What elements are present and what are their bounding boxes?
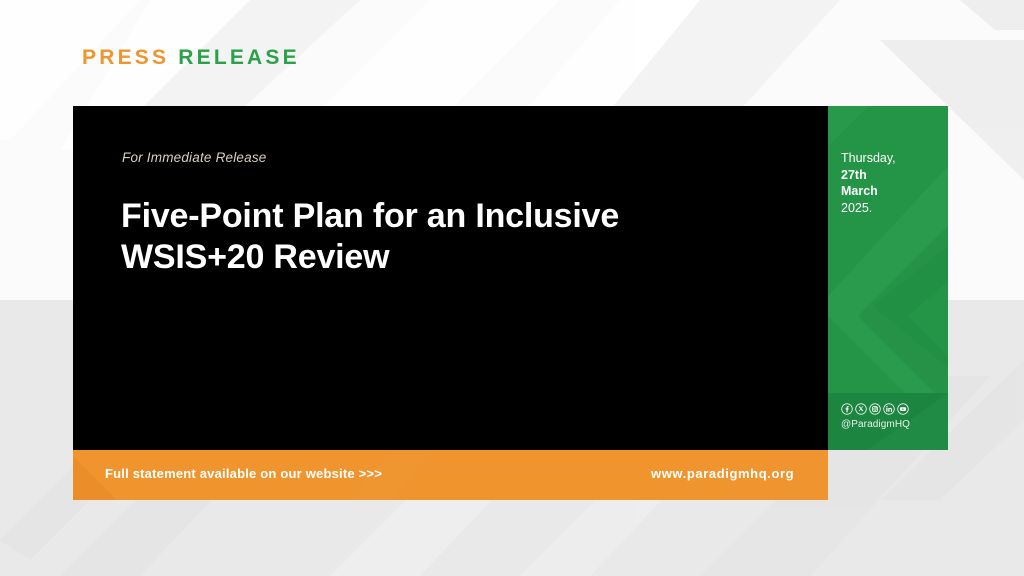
instagram-icon[interactable] (869, 403, 881, 415)
social-block: @ParadigmHQ (841, 403, 941, 430)
date-weekday: Thursday, (841, 150, 896, 167)
social-handle: @ParadigmHQ (841, 419, 941, 430)
date-day: 27th (841, 167, 896, 184)
page-title-release: RELEASE (178, 46, 300, 69)
youtube-icon[interactable] (897, 403, 909, 415)
hero-panel: For Immediate Release Five-Point Plan fo… (73, 106, 828, 450)
page-header: PRESS RELEASE PARADIGM INITIATIVE (0, 46, 1024, 94)
release-kicker: For Immediate Release (122, 150, 267, 165)
footer-bar: Full statement available on our website … (73, 450, 828, 500)
page-title-press: PRESS (82, 46, 169, 69)
headline: Five-Point Plan for an Inclusive WSIS+20… (121, 196, 761, 279)
date-year: 2025. (841, 200, 896, 217)
date-panel: Thursday, 27th March 2025. (828, 106, 948, 450)
footer-cta-text[interactable]: Full statement available on our website … (105, 466, 382, 481)
date-month: March (841, 183, 896, 200)
page-title: PRESS RELEASE (82, 46, 300, 70)
facebook-icon[interactable] (841, 403, 853, 415)
release-date: Thursday, 27th March 2025. (841, 150, 896, 217)
footer-website-url[interactable]: www.paradigmhq.org (651, 466, 794, 481)
linkedin-icon[interactable] (883, 403, 895, 415)
x-twitter-icon[interactable] (855, 403, 867, 415)
social-icon-row (841, 403, 941, 415)
